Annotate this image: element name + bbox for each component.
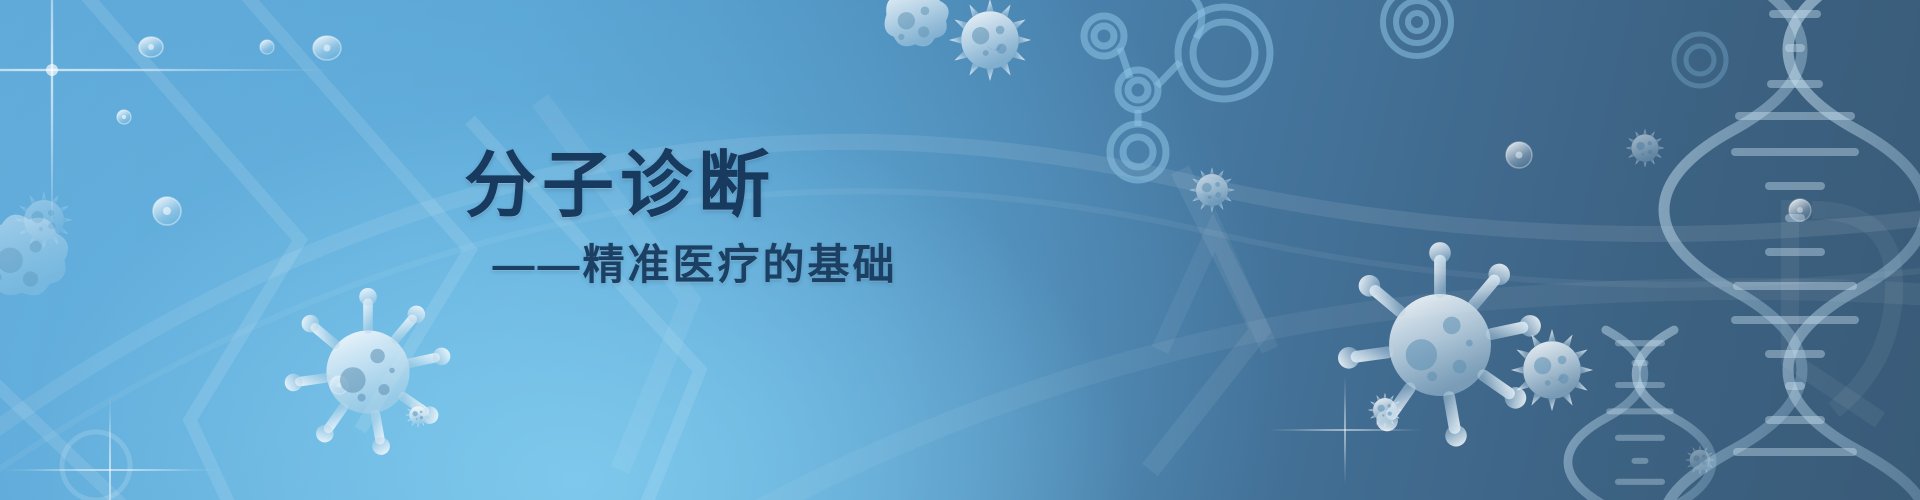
page-subtitle: ——精准医疗的基础 [0,244,1240,286]
virus-cell-icon [1626,129,1665,168]
banner-hero: 分子诊断 ——精准医疗的基础 [0,0,1920,500]
virus-cell-cluster [1337,242,1593,448]
sparkle-small-icon [0,392,220,500]
bubble-icon [117,110,131,124]
sparkle-small-icon-2 [1265,374,1425,486]
title-block: 分子诊断 ——精准医疗的基础 [0,150,1240,286]
concentric-circles-icon-2 [1674,34,1726,86]
dna-helix-icon-2 [1568,330,1712,500]
ring-outline-icon [62,432,130,500]
bubble-icon [313,36,341,60]
virus-cell-cluster [885,0,1031,81]
bubble-icon [330,376,348,394]
bubble-icon [1789,199,1811,221]
dna-helix-icon [1664,0,1920,500]
virus-cell-icon [1685,445,1715,475]
watermark-shapes [1160,200,1894,420]
bubble-icon [1506,142,1532,168]
virus-cell-cluster [284,288,452,456]
bubble-icon [260,40,274,54]
bubble-icon [139,37,163,57]
concentric-circles-icon [1383,0,1451,56]
page-title: 分子诊断 [0,150,1240,222]
